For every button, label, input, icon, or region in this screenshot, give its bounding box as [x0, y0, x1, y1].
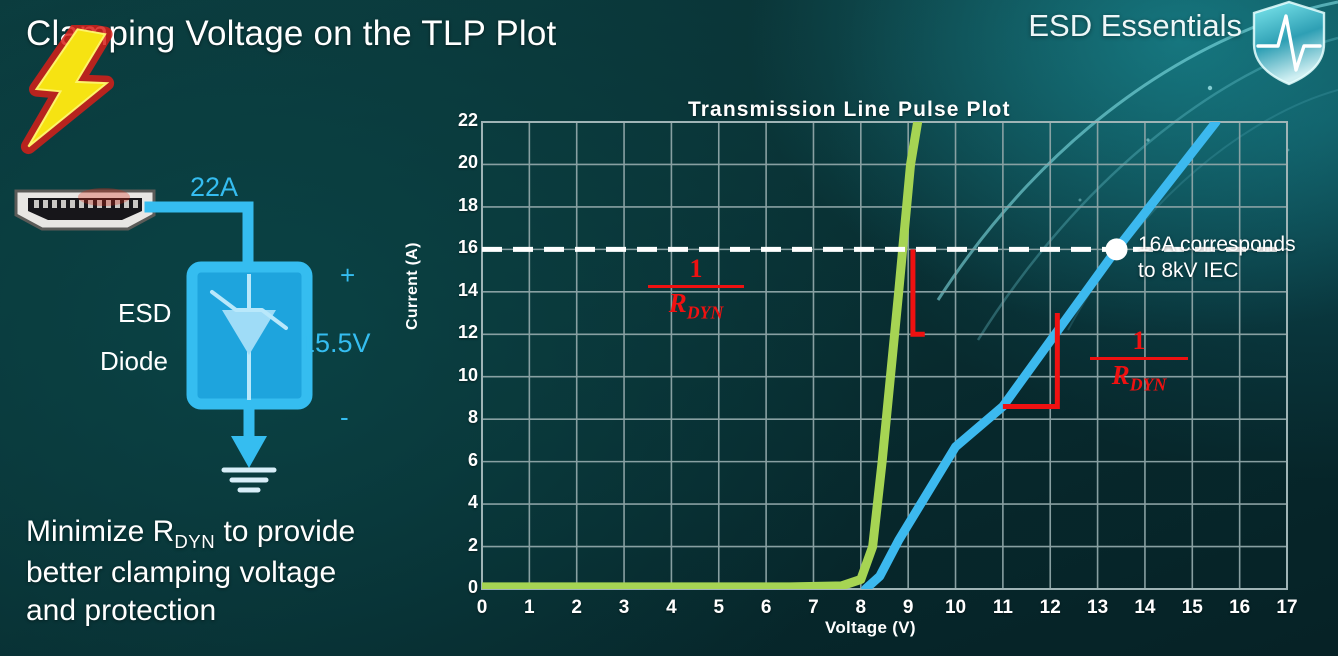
- shield-pulse-icon: [1248, 0, 1330, 86]
- device-label-line2: Diode: [100, 346, 168, 377]
- polarity-plus-label: +: [340, 260, 355, 291]
- fraction-numerator: 1: [1090, 328, 1188, 354]
- slope-annotation-low-rdyn: 1 RDYN: [648, 256, 744, 322]
- fraction-bar: [1090, 357, 1188, 360]
- slide-background: Clamping Voltage on the TLP Plot ESD Ess…: [0, 0, 1338, 656]
- takeaway-text: Minimize RDYN to provide better clamping…: [26, 513, 446, 631]
- clamp-callout: 16A corresponds to 8kV IEC: [1138, 232, 1296, 283]
- plot-area: [410, 90, 1338, 630]
- esd-circuit-diagram: 22A 15.5V + - ESD Diode: [0, 150, 420, 510]
- brand-label: ESD Essentials: [1028, 8, 1242, 44]
- fraction-bar: [648, 285, 744, 288]
- voltage-label: 15.5V: [300, 328, 371, 359]
- callout-line-1: 16A corresponds: [1138, 232, 1296, 258]
- callout-line-2: to 8kV IEC: [1138, 258, 1296, 284]
- lightning-bolt-icon: [8, 25, 133, 165]
- polarity-minus-label: -: [340, 402, 349, 433]
- tlp-chart: Transmission Line Pulse Plot Current (A)…: [410, 90, 1338, 656]
- takeaway-line-3: and protection: [26, 592, 446, 630]
- device-label-line1: ESD: [118, 298, 171, 329]
- takeaway-line-1: Minimize RDYN to provide: [26, 513, 446, 554]
- fraction-denominator: RDYN: [1090, 361, 1188, 394]
- takeaway-line-2: better clamping voltage: [26, 554, 446, 592]
- fraction-numerator: 1: [648, 256, 744, 282]
- fraction-denominator: RDYN: [648, 289, 744, 322]
- slope-annotation-high-rdyn: 1 RDYN: [1090, 328, 1188, 394]
- clamping-point-marker: [1106, 238, 1128, 260]
- series-low-rdyn: [482, 122, 918, 587]
- current-label: 22A: [190, 172, 238, 203]
